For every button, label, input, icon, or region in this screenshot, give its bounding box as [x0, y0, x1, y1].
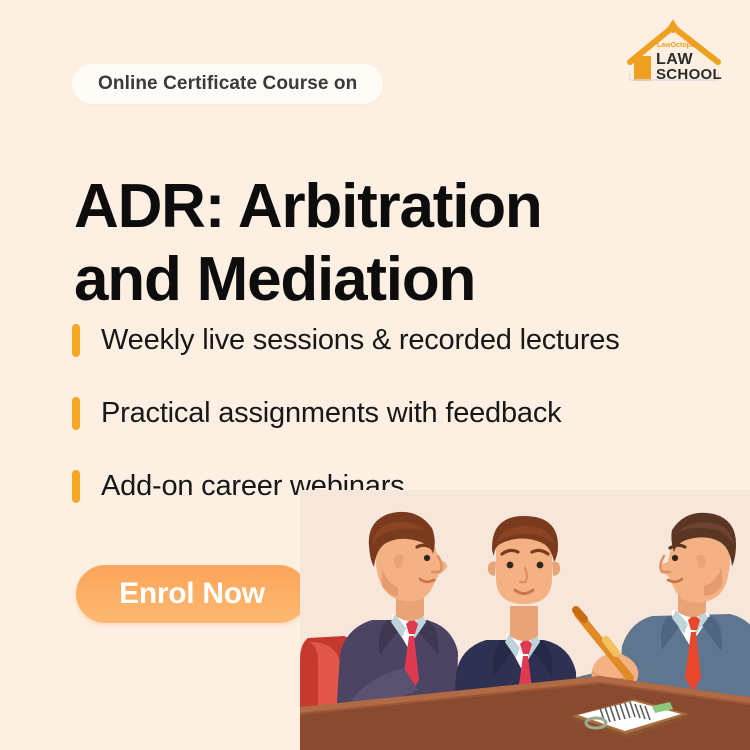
bullet-marker-icon: [72, 470, 80, 503]
badge-label: Online Certificate Course on: [98, 73, 357, 95]
logo-wordmark-small: LawOctopus: [657, 42, 699, 49]
law-school-logo[interactable]: LawOctopus LAW SCHOOL: [620, 18, 728, 86]
course-type-badge: Online Certificate Course on: [72, 64, 383, 104]
bullet-marker-icon: [72, 397, 80, 430]
logo-text-school: SCHOOL: [656, 66, 722, 83]
enrol-now-button[interactable]: Enrol Now: [76, 565, 308, 623]
list-item: Practical assignments with feedback: [72, 391, 712, 436]
promo-poster: LawOctopus LAW SCHOOL Online Certificate…: [0, 0, 750, 750]
list-item: Weekly live sessions & recorded lectures: [72, 318, 712, 363]
title-line-1: ADR: Arbitration: [74, 172, 542, 241]
title-line-2: and Mediation: [74, 243, 684, 316]
page-title: ADR: Arbitration and Mediation: [74, 170, 684, 316]
bullet-marker-icon: [72, 324, 80, 357]
feature-label: Practical assignments with feedback: [101, 397, 561, 430]
three-businessmen-negotiation-illustration: [300, 490, 750, 750]
illustration-artwork: [300, 490, 750, 750]
feature-label: Weekly live sessions & recorded lectures: [101, 324, 620, 357]
logo-door-block: [634, 56, 651, 81]
logo-artwork: LawOctopus LAW SCHOOL: [620, 18, 728, 86]
